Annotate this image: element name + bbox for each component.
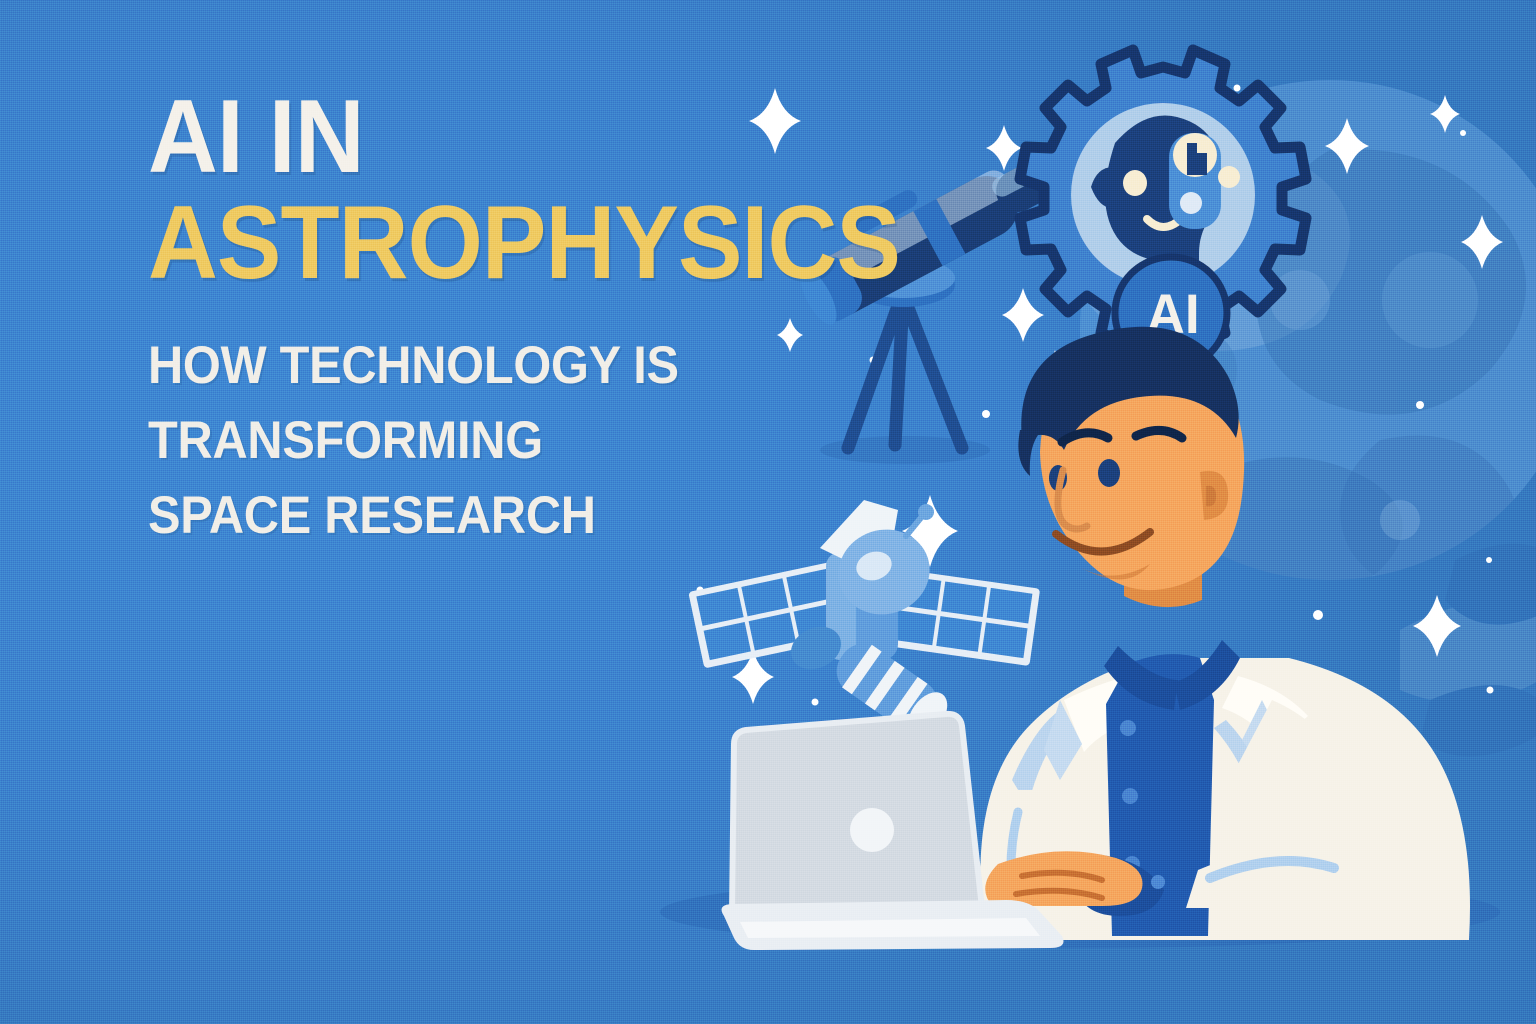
poster-canvas: AI <box>0 0 1536 1024</box>
subtitle-block: HOW TECHNOLOGY IS TRANSFORMING SPACE RES… <box>148 328 902 554</box>
poster-text-block: AI IN ASTROPHYSICS HOW TECHNOLOGY IS TRA… <box>148 88 968 553</box>
headline-line-1: AI IN <box>148 88 911 188</box>
subtitle-line-2: TRANSFORMING <box>148 403 902 478</box>
headline-line-2: ASTROPHYSICS <box>148 194 911 294</box>
subtitle-line-1: HOW TECHNOLOGY IS <box>148 328 902 403</box>
subtitle-line-3: SPACE RESEARCH <box>148 478 902 553</box>
